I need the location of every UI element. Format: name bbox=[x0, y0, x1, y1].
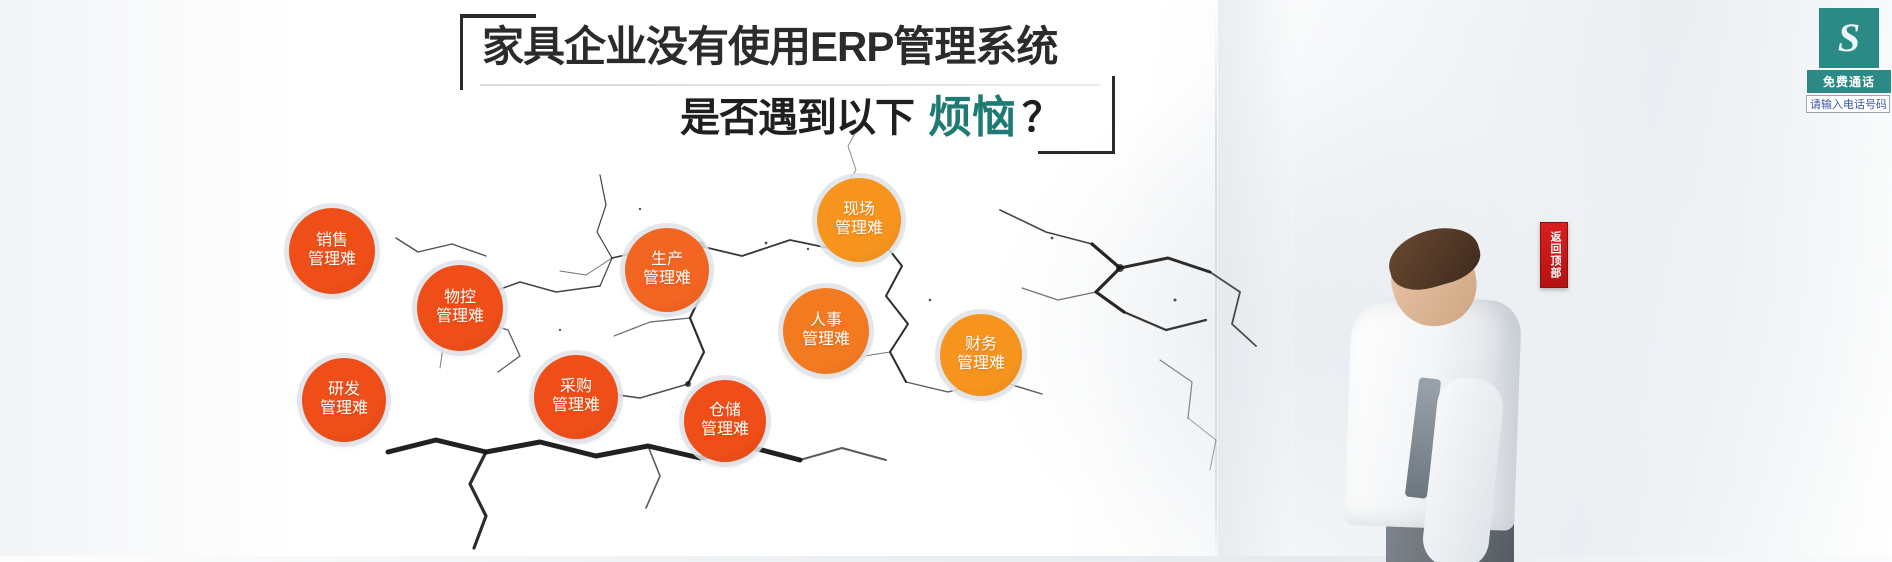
frustrated-man-illustration bbox=[1330, 228, 1560, 562]
bubble-label-line-2: 管理难 bbox=[802, 331, 850, 350]
wall-left-shading bbox=[0, 0, 300, 562]
bubble-label-line-2: 管理难 bbox=[308, 251, 356, 270]
bracket-top-left-horizontal bbox=[460, 14, 536, 18]
bubble-label-line-1: 物控 bbox=[444, 289, 476, 308]
banner-stage: 家具企业没有使用ERP管理系统 是否遇到以下烦恼？ 销售管理难物控管理难生产管理… bbox=[0, 0, 1892, 562]
problem-bubble-warehouse[interactable]: 仓储管理难 bbox=[684, 380, 766, 462]
bubble-label-line-2: 管理难 bbox=[701, 421, 749, 440]
floor-line bbox=[0, 556, 1892, 562]
headline-block: 家具企业没有使用ERP管理系统 是否遇到以下烦恼？ bbox=[460, 8, 1160, 158]
bracket-bottom-right-horizontal bbox=[1038, 151, 1115, 154]
free-call-widget: S 免费通话 bbox=[1806, 8, 1892, 113]
bubble-label-line-1: 人事 bbox=[810, 312, 842, 331]
bubble-label-line-1: 采购 bbox=[560, 378, 592, 397]
problem-bubble-hr[interactable]: 人事管理难 bbox=[783, 288, 869, 374]
free-call-label[interactable]: 免费通话 bbox=[1807, 70, 1891, 93]
bubble-label-line-1: 现场 bbox=[843, 201, 875, 220]
headline-line-2: 是否遇到以下烦恼？ bbox=[680, 96, 1062, 140]
problem-bubble-purchase[interactable]: 采购管理难 bbox=[534, 355, 618, 439]
bracket-top-left-vertical bbox=[460, 14, 463, 90]
problem-bubble-sales[interactable]: 销售管理难 bbox=[289, 208, 375, 294]
headline-divider bbox=[480, 84, 1100, 86]
bubble-label-line-1: 仓储 bbox=[709, 402, 741, 421]
problem-bubble-finance[interactable]: 财务管理难 bbox=[940, 314, 1022, 396]
headline-question-mark: ？ bbox=[1022, 98, 1062, 138]
problem-bubble-site[interactable]: 现场管理难 bbox=[817, 178, 901, 262]
back-to-top-button[interactable]: 返回顶部 bbox=[1540, 222, 1568, 288]
bubble-label-line-2: 管理难 bbox=[436, 308, 484, 327]
problem-bubble-material[interactable]: 物控管理难 bbox=[417, 265, 503, 351]
bubble-label-line-2: 管理难 bbox=[957, 355, 1005, 374]
problem-bubble-rnd[interactable]: 研发管理难 bbox=[302, 358, 386, 442]
wall-right-panel bbox=[1218, 0, 1294, 562]
bubble-label-line-1: 销售 bbox=[316, 232, 348, 251]
bubble-label-line-1: 生产 bbox=[651, 251, 683, 270]
bubble-label-line-1: 财务 bbox=[965, 336, 997, 355]
wall-corner-edge bbox=[1215, 0, 1217, 562]
bubble-label-line-2: 管理难 bbox=[643, 270, 691, 289]
brand-s-logo-icon: S bbox=[1819, 8, 1879, 68]
bubble-label-line-2: 管理难 bbox=[835, 220, 883, 239]
bracket-bottom-right-vertical bbox=[1112, 76, 1115, 154]
problem-bubble-production[interactable]: 生产管理难 bbox=[625, 228, 709, 312]
bubble-label-line-1: 研发 bbox=[328, 381, 360, 400]
headline-line-2-prefix: 是否遇到以下 bbox=[680, 98, 914, 138]
phone-number-input[interactable] bbox=[1806, 95, 1890, 113]
bubble-label-line-2: 管理难 bbox=[552, 397, 600, 416]
headline-line-1: 家具企业没有使用ERP管理系统 bbox=[482, 26, 1057, 68]
bubble-label-line-2: 管理难 bbox=[320, 400, 368, 419]
headline-highlight-word: 烦恼 bbox=[928, 96, 1016, 140]
